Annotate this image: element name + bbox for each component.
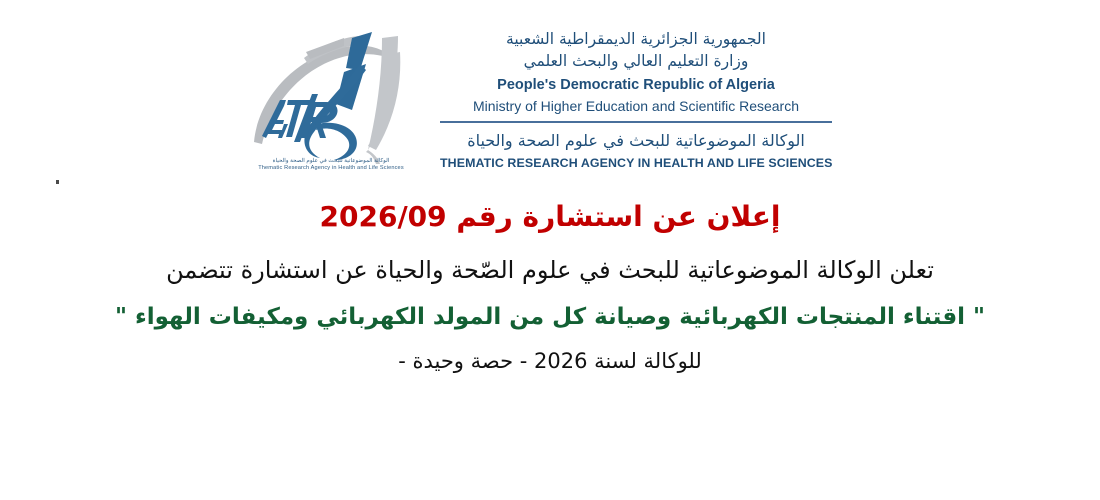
letterhead-text-block: الجمهورية الجزائرية الديمقراطية الشعبية … bbox=[440, 28, 832, 173]
ministry-name-arabic: وزارة التعليم العالي والبحث العلمي bbox=[440, 50, 832, 72]
republic-name-english: People's Democratic Republic of Algeria bbox=[440, 75, 832, 96]
announcement-intro: تعلن الوكالة الموضوعاتية للبحث في علوم ا… bbox=[0, 252, 1100, 288]
atr-logo-icon bbox=[248, 24, 428, 164]
letterhead: الوكالة الموضوعاتية للبحث في علوم الصحة … bbox=[0, 18, 1100, 190]
republic-name-arabic: الجمهورية الجزائرية الديمقراطية الشعبية bbox=[440, 28, 832, 50]
logo-caption-english: Thematic Research Agency in Health and L… bbox=[250, 165, 412, 172]
announcement-page: الوكالة الموضوعاتية للبحث في علوم الصحة … bbox=[0, 0, 1100, 500]
announcement-body: إعلان عن استشارة رقم 2026/09 تعلن الوكال… bbox=[0, 196, 1100, 377]
agency-name-arabic: الوكالة الموضوعاتية للبحث في علوم الصحة … bbox=[440, 129, 832, 153]
announcement-subject: " اقتناء المنتجات الكهربائية وصيانة كل م… bbox=[0, 300, 1100, 335]
agency-name-english: THEMATIC RESEARCH AGENCY IN HEALTH AND L… bbox=[440, 155, 832, 172]
announcement-footer: للوكالة لسنة 2026 - حصة وحيدة - bbox=[0, 346, 1100, 378]
letterhead-divider bbox=[440, 121, 832, 123]
announcement-title: إعلان عن استشارة رقم 2026/09 bbox=[0, 196, 1100, 238]
ministry-name-english: Ministry of Higher Education and Scienti… bbox=[440, 96, 832, 116]
logo-caption-arabic: الوكالة الموضوعاتية للبحث في علوم الصحة … bbox=[250, 158, 412, 165]
agency-logo: الوكالة الموضوعاتية للبحث في علوم الصحة … bbox=[248, 24, 428, 192]
logo-caption: الوكالة الموضوعاتية للبحث في علوم الصحة … bbox=[250, 158, 412, 172]
